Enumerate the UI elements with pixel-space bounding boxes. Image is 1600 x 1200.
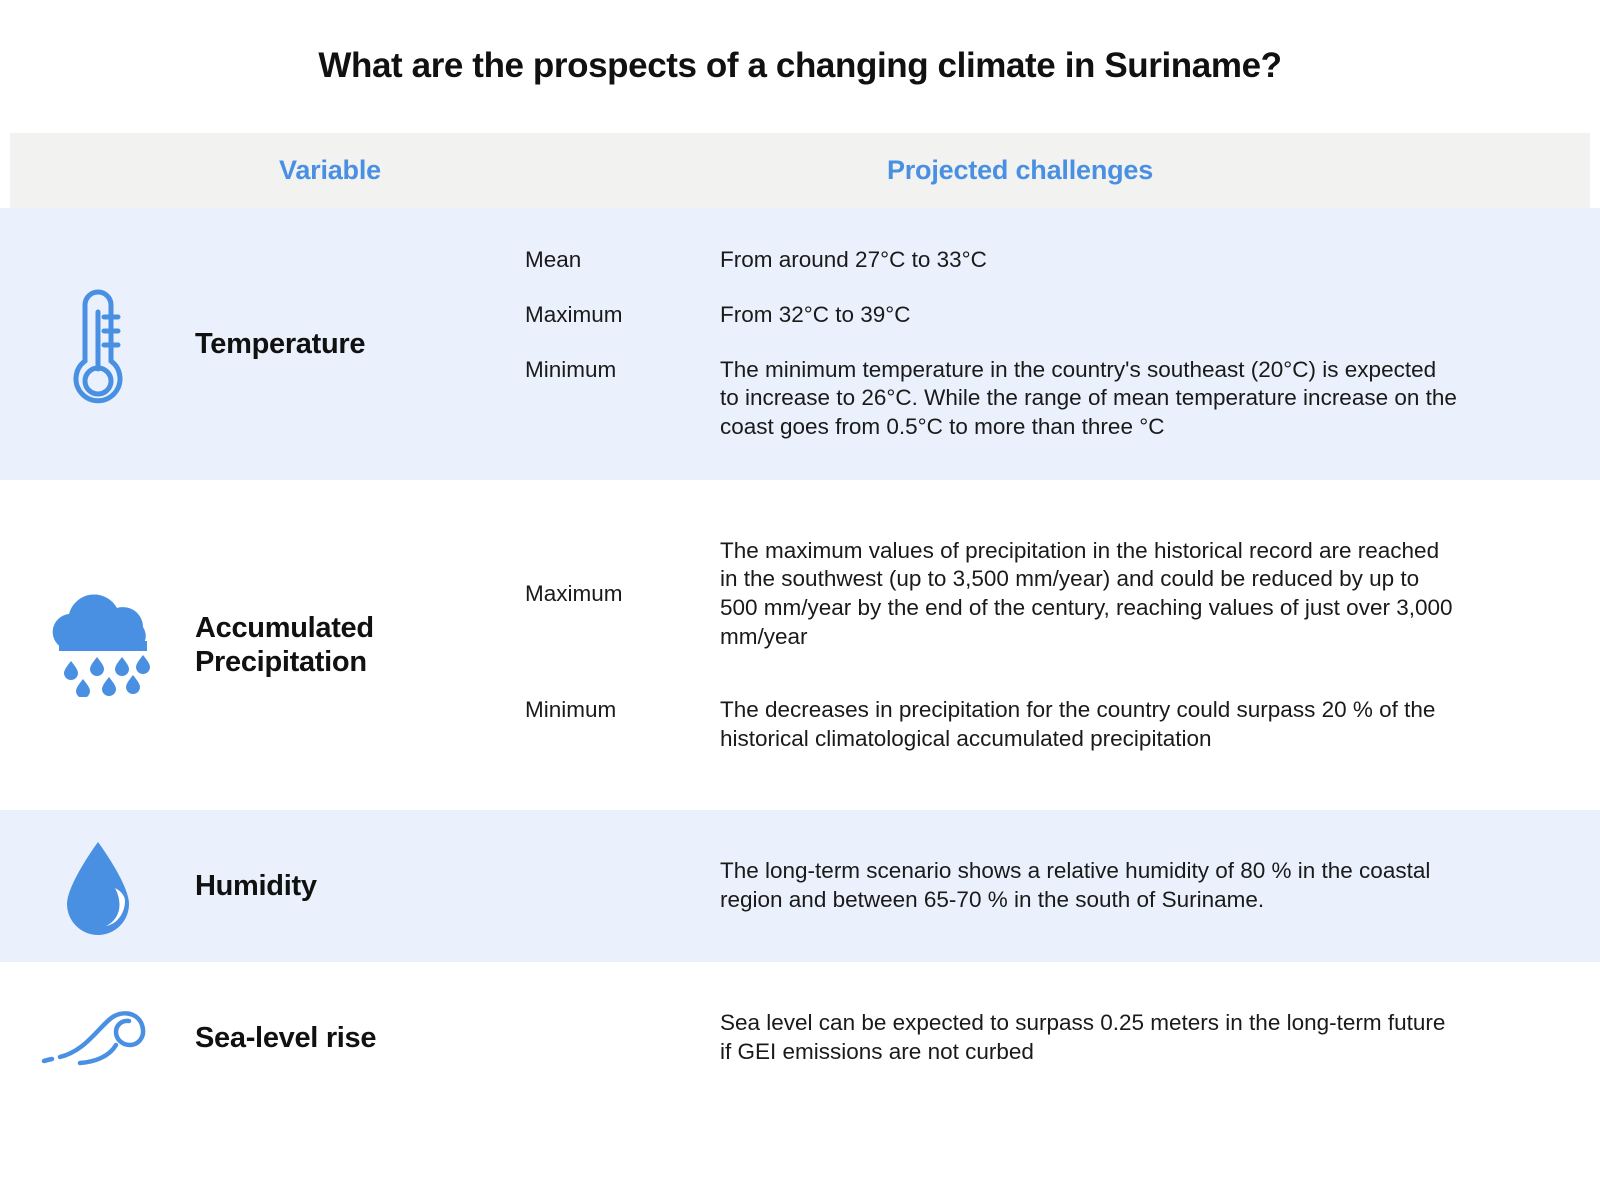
challenge-item: Maximum The maximum values of precipitat… bbox=[525, 537, 1600, 652]
row-icon-cell bbox=[0, 208, 195, 480]
spacer bbox=[525, 652, 1600, 696]
challenge-item: Maximum From 32°C to 39°C bbox=[525, 301, 1600, 330]
challenge-text: The long-term scenario shows a relative … bbox=[720, 857, 1460, 915]
challenge-text: Sea level can be expected to surpass 0.2… bbox=[720, 1009, 1460, 1067]
variable-name-cell: Accumulated Precipitation bbox=[195, 480, 525, 810]
variable-label: Accumulated Precipitation bbox=[195, 611, 525, 679]
challenges-cell: Sea level can be expected to surpass 0.2… bbox=[525, 962, 1600, 1114]
challenges-cell: Mean From around 27°C to 33°C Maximum Fr… bbox=[525, 208, 1600, 480]
challenge-text: The decreases in precipitation for the c… bbox=[720, 696, 1460, 754]
table-row: Temperature Mean From around 27°C to 33°… bbox=[0, 208, 1600, 480]
variable-name-cell: Humidity bbox=[195, 810, 525, 962]
table-header-row: Variable Projected challenges bbox=[10, 133, 1590, 208]
column-header-variable: Variable bbox=[10, 155, 650, 186]
challenge-label: Minimum bbox=[525, 696, 720, 725]
rain-cloud-icon bbox=[43, 593, 153, 697]
wave-icon bbox=[38, 1003, 158, 1073]
table-row: Accumulated Precipitation Maximum The ma… bbox=[0, 480, 1600, 810]
challenges-cell: The long-term scenario shows a relative … bbox=[525, 810, 1600, 962]
challenge-text: From around 27°C to 33°C bbox=[720, 246, 1440, 275]
variable-name-cell: Sea-level rise bbox=[195, 962, 525, 1114]
challenge-label: Maximum bbox=[525, 301, 720, 330]
infographic-page: What are the prospects of a changing cli… bbox=[0, 0, 1600, 1200]
row-icon-cell bbox=[0, 962, 195, 1114]
variable-name-cell: Temperature bbox=[195, 208, 525, 480]
page-title: What are the prospects of a changing cli… bbox=[0, 0, 1600, 87]
row-icon-cell bbox=[0, 810, 195, 962]
challenge-item: Minimum The minimum temperature in the c… bbox=[525, 356, 1600, 442]
column-header-challenges: Projected challenges bbox=[650, 155, 1390, 186]
variable-label: Temperature bbox=[195, 327, 365, 361]
challenge-item: Sea level can be expected to surpass 0.2… bbox=[525, 1009, 1600, 1067]
challenge-label: Maximum bbox=[525, 580, 720, 609]
challenge-label: Minimum bbox=[525, 356, 720, 385]
challenge-item: Minimum The decreases in precipitation f… bbox=[525, 696, 1600, 754]
challenge-text: The minimum temperature in the country's… bbox=[720, 356, 1460, 442]
variable-label: Sea-level rise bbox=[195, 1021, 376, 1055]
challenge-label: Mean bbox=[525, 246, 720, 275]
thermometer-icon bbox=[63, 282, 133, 406]
water-drop-icon bbox=[59, 836, 137, 936]
challenge-item: The long-term scenario shows a relative … bbox=[525, 857, 1600, 915]
challenge-text: From 32°C to 39°C bbox=[720, 301, 1440, 330]
table-row: Sea-level rise Sea level can be expected… bbox=[0, 962, 1600, 1114]
challenges-cell: Maximum The maximum values of precipitat… bbox=[525, 480, 1600, 810]
variable-label: Humidity bbox=[195, 869, 317, 903]
climate-table: Variable Projected challenges Temperatur… bbox=[0, 133, 1600, 1114]
challenge-text: The maximum values of precipitation in t… bbox=[720, 537, 1460, 652]
table-row: Humidity The long-term scenario shows a … bbox=[0, 810, 1600, 962]
challenge-item: Mean From around 27°C to 33°C bbox=[525, 246, 1600, 275]
row-icon-cell bbox=[0, 480, 195, 810]
